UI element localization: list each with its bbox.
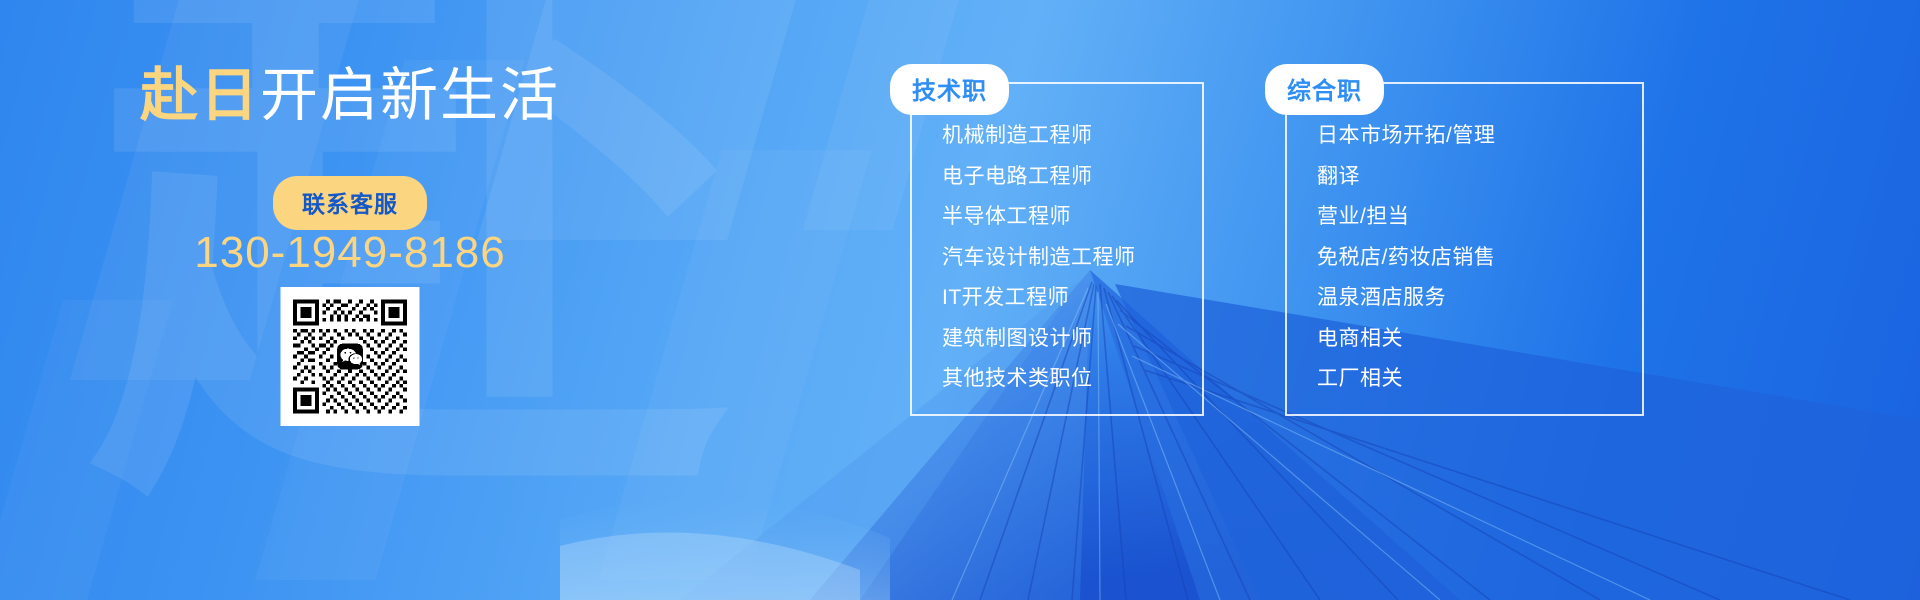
list-item[interactable]: 电子电路工程师 (942, 157, 1136, 198)
list-item[interactable]: 机械制造工程师 (942, 116, 1136, 157)
mount-fuji-illustration (560, 270, 1920, 600)
job-list-technical: 机械制造工程师 电子电路工程师 半导体工程师 汽车设计制造工程师 IT开发工程师… (942, 116, 1136, 400)
phone-number[interactable]: 130-1949-8186 (0, 228, 700, 278)
wechat-qr-code-icon[interactable] (281, 287, 420, 426)
list-item[interactable]: 翻译 (1317, 157, 1495, 198)
promo-banner: 赴 (0, 0, 1920, 600)
list-item[interactable]: 汽车设计制造工程师 (942, 238, 1136, 279)
list-item[interactable]: 温泉酒店服务 (1317, 278, 1495, 319)
list-item[interactable]: IT开发工程师 (942, 278, 1136, 319)
list-item[interactable]: 营业/担当 (1317, 197, 1495, 238)
page-title: 赴日开启新生活 (0, 48, 700, 132)
list-item[interactable]: 日本市场开拓/管理 (1317, 116, 1495, 157)
headline-rest: 开启新生活 (260, 63, 560, 128)
job-category-technical: 技术职 机械制造工程师 电子电路工程师 半导体工程师 汽车设计制造工程师 IT开… (910, 82, 1204, 416)
list-item[interactable]: 工厂相关 (1317, 359, 1495, 400)
list-item[interactable]: 半导体工程师 (942, 197, 1136, 238)
list-item[interactable]: 其他技术类职位 (942, 359, 1136, 400)
job-list-general: 日本市场开拓/管理 翻译 营业/担当 免税店/药妆店销售 温泉酒店服务 电商相关… (1317, 116, 1495, 400)
list-item[interactable]: 免税店/药妆店销售 (1317, 238, 1495, 279)
job-category-general: 综合职 日本市场开拓/管理 翻译 营业/担当 免税店/药妆店销售 温泉酒店服务 … (1285, 82, 1644, 416)
contact-support-button[interactable]: 联系客服 (273, 176, 427, 230)
list-item[interactable]: 建筑制图设计师 (942, 319, 1136, 360)
headline-highlight: 赴日 (140, 63, 260, 128)
job-category-general-badge: 综合职 (1265, 64, 1384, 115)
job-category-technical-badge: 技术职 (890, 64, 1009, 115)
left-content-column: 赴日开启新生活 联系客服 130-1949-8186 (0, 0, 700, 600)
list-item[interactable]: 电商相关 (1317, 319, 1495, 360)
